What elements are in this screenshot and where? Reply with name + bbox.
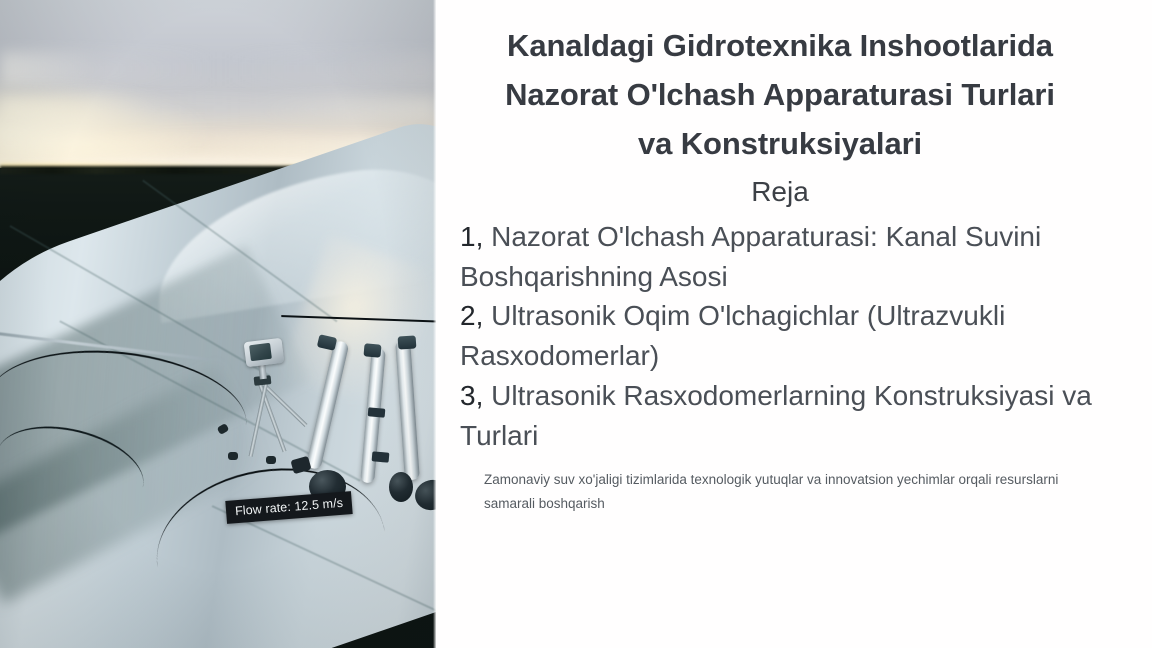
tripod-foot <box>228 452 238 460</box>
slide-content-panel: Kanaldagi Gidrotexnika Inshootlarida Naz… <box>436 0 1152 648</box>
plan-item-number: 2, <box>460 300 483 331</box>
measuring-instrument-display <box>249 343 272 361</box>
plan-item-text: Nazorat O'lchash Apparaturasi: Kanal Suv… <box>460 221 1041 292</box>
probe-cap <box>363 343 381 357</box>
plan-list-item: 2, Ultrasonik Oqim O'lchagichlar (Ultraz… <box>460 296 1100 376</box>
canal-photograph: Flow rate: 12.5 m/s <box>0 0 436 648</box>
tripod-foot <box>266 456 276 464</box>
probe-collar <box>372 451 390 462</box>
slide-image-panel: Flow rate: 12.5 m/s <box>0 0 436 648</box>
plan-list: 1, Nazorat O'lchash Apparaturasi: Kanal … <box>460 217 1100 456</box>
plan-item-text: Ultrasonik Rasxodomerlarning Konstruksiy… <box>460 380 1092 451</box>
probe-sensor-head <box>389 472 413 502</box>
plan-list-item: 3, Ultrasonik Rasxodomerlarning Konstruk… <box>460 376 1100 456</box>
plan-item-text: Ultrasonik Oqim O'lchagichlar (Ultrazvuk… <box>460 300 1005 371</box>
plan-list-item: 1, Nazorat O'lchash Apparaturasi: Kanal … <box>460 217 1100 297</box>
presentation-slide: Flow rate: 12.5 m/s Kanaldagi Gidrotexni… <box>0 0 1152 648</box>
plan-item-number: 1, <box>460 221 483 252</box>
plan-item-number: 3, <box>460 380 483 411</box>
slide-title: Kanaldagi Gidrotexnika Inshootlarida Naz… <box>460 22 1100 169</box>
sunset-glow <box>0 78 210 168</box>
slide-subtitle: Zamonaviy suv xo'jaligi tizimlarida texn… <box>460 468 1100 515</box>
section-heading-reja: Reja <box>460 171 1100 213</box>
probe-cap <box>398 335 417 349</box>
probe-collar <box>368 407 386 417</box>
